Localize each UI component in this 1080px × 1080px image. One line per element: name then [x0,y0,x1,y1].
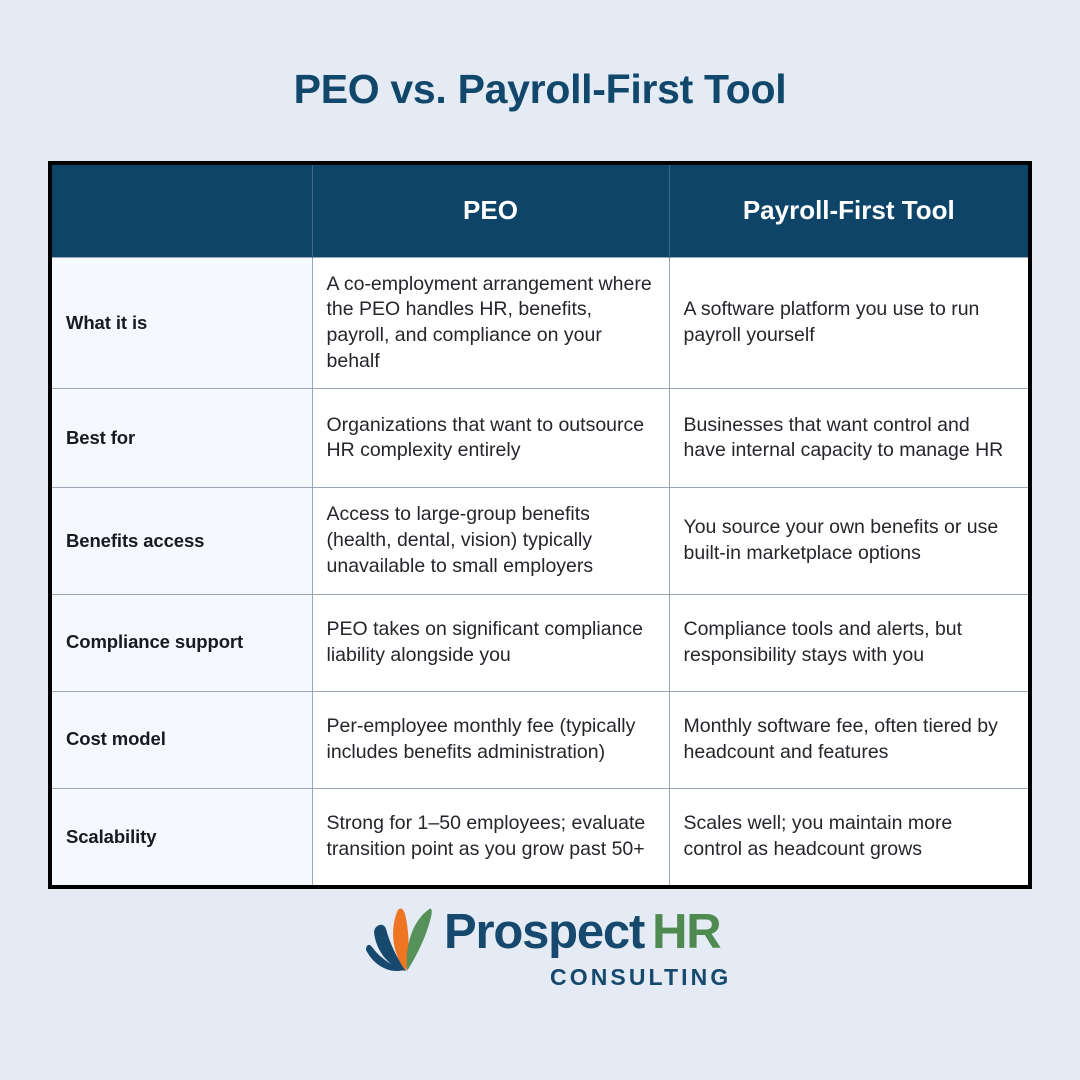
column-header-payroll-first-tool: Payroll-First Tool [669,165,1028,257]
logo-word-prospect: Prospect [444,905,644,959]
cell-peo: PEO takes on significant compliance liab… [312,594,669,691]
cell-peo: A co-employment arrangement where the PE… [312,257,669,389]
table-row: Scalability Strong for 1–50 employees; e… [52,788,1028,885]
row-label: What it is [52,257,312,389]
table-header-row: PEO Payroll-First Tool [52,165,1028,257]
leaf-mark-icon [364,904,442,976]
cell-payroll: Scales well; you maintain more control a… [669,788,1028,885]
table-row: Cost model Per-employee monthly fee (typ… [52,691,1028,788]
logo-inner: ProspectHR CONSULTING [364,902,716,1002]
page-title: PEO vs. Payroll-First Tool [0,66,1080,113]
cell-payroll: Compliance tools and alerts, but respons… [669,594,1028,691]
cell-peo: Organizations that want to outsource HR … [312,389,669,488]
logo-subtitle: CONSULTING [550,964,731,991]
table-row: Best for Organizations that want to outs… [52,389,1028,488]
row-label: Scalability [52,788,312,885]
cell-peo: Access to large-group benefits (health, … [312,488,669,594]
table-body: What it is A co-employment arrangement w… [52,257,1028,885]
row-label: Benefits access [52,488,312,594]
comparison-table: PEO Payroll-First Tool What it is A co-e… [52,165,1028,885]
table-row: What it is A co-employment arrangement w… [52,257,1028,389]
logo-word-hr: HR [652,905,720,959]
comparison-table-container: PEO Payroll-First Tool What it is A co-e… [48,161,1032,889]
cell-payroll: You source your own benefits or use buil… [669,488,1028,594]
logo-wordmark: ProspectHR [444,908,720,957]
brand-logo: ProspectHR CONSULTING [0,902,1080,1012]
infographic-page: PEO vs. Payroll-First Tool PEO Payroll-F… [0,0,1080,1080]
cell-payroll: A software platform you use to run payro… [669,257,1028,389]
cell-payroll: Businesses that want control and have in… [669,389,1028,488]
cell-peo: Strong for 1–50 employees; evaluate tran… [312,788,669,885]
table-header: PEO Payroll-First Tool [52,165,1028,257]
table-row: Benefits access Access to large-group be… [52,488,1028,594]
column-header-peo: PEO [312,165,669,257]
cell-payroll: Monthly software fee, often tiered by he… [669,691,1028,788]
table-row: Compliance support PEO takes on signific… [52,594,1028,691]
column-header-blank [52,165,312,257]
cell-peo: Per-employee monthly fee (typically incl… [312,691,669,788]
row-label: Compliance support [52,594,312,691]
row-label: Best for [52,389,312,488]
row-label: Cost model [52,691,312,788]
